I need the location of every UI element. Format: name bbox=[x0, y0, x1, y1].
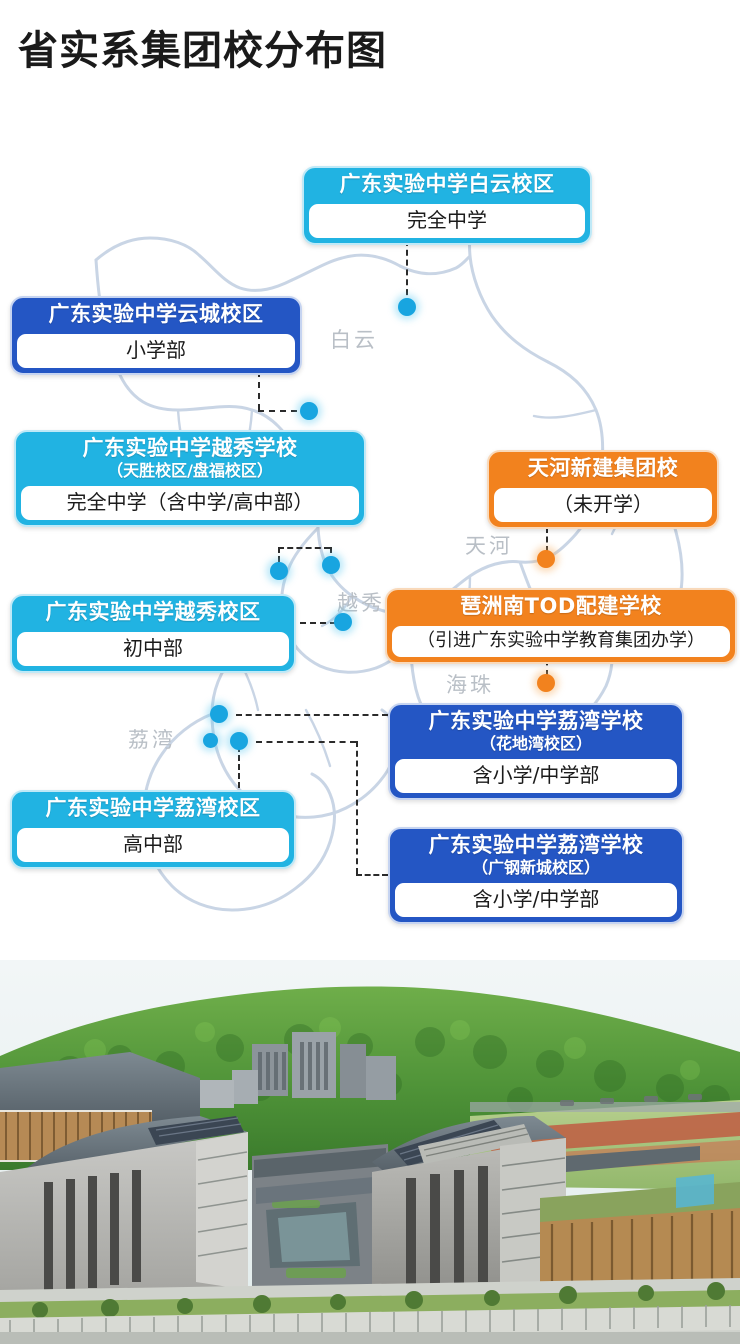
map-dot-liwan-huadiwan[interactable] bbox=[210, 705, 228, 723]
card-baiyun-campus[interactable]: 广东实验中学白云校区 完全中学 bbox=[302, 166, 592, 245]
card-pazhou-header: 琶洲南TOD配建学校 bbox=[387, 590, 735, 625]
card-tianhe-body: （未开学） bbox=[493, 487, 713, 523]
district-label-liwan: 荔湾 bbox=[128, 724, 176, 754]
card-yuexiu-campus-header: 广东实验中学越秀校区 bbox=[12, 596, 294, 631]
page-title: 省实系集团校分布图 bbox=[18, 18, 387, 76]
district-label-tianhe: 天河 bbox=[465, 530, 513, 560]
district-label-baiyun: 白云 bbox=[330, 324, 378, 354]
card-liwan-huadiwan-body: 含小学/中学部 bbox=[394, 758, 678, 794]
card-yuexiu-campus[interactable]: 广东实验中学越秀校区 初中部 bbox=[10, 594, 296, 673]
card-yuncheng-body: 小学部 bbox=[16, 333, 296, 369]
map-dot-liwan-campus[interactable] bbox=[203, 733, 218, 748]
card-liwan-guanggang-title: 广东实验中学荔湾学校 bbox=[400, 834, 672, 858]
map-dot-yuexiu-campus[interactable] bbox=[334, 613, 352, 631]
card-liwan-huadiwan-school[interactable]: 广东实验中学荔湾学校 （花地湾校区） 含小学/中学部 bbox=[388, 703, 684, 800]
card-tianhe-new-school[interactable]: 天河新建集团校 （未开学） bbox=[487, 450, 719, 529]
map-dot-yuexiu-panfu[interactable] bbox=[322, 556, 340, 574]
card-liwan-guanggang-school[interactable]: 广东实验中学荔湾学校 （广钢新城校区） 含小学/中学部 bbox=[388, 827, 684, 924]
map-dot-yuexiu-tiansheng[interactable] bbox=[270, 562, 288, 580]
card-tianhe-title: 天河新建集团校 bbox=[499, 457, 707, 481]
card-yuexiu-school-title: 广东实验中学越秀学校 bbox=[26, 437, 354, 461]
connector-liwan-guanggang-h1 bbox=[256, 741, 356, 743]
map-dot-tianhe-new[interactable] bbox=[537, 550, 555, 568]
card-pazhou-body: （引进广东实验中学教育集团办学） bbox=[391, 625, 731, 659]
campus-photo bbox=[0, 960, 740, 1344]
district-label-haizhu: 海珠 bbox=[446, 669, 494, 699]
card-yuexiu-school-subtitle: （天胜校区/盘福校区） bbox=[26, 462, 354, 480]
card-yuncheng-campus[interactable]: 广东实验中学云城校区 小学部 bbox=[10, 296, 302, 375]
card-liwan-guanggang-body: 含小学/中学部 bbox=[394, 882, 678, 918]
campus-photo-svg bbox=[0, 960, 740, 1344]
card-pazhou-tod-school[interactable]: 琶洲南TOD配建学校 （引进广东实验中学教育集团办学） bbox=[385, 588, 737, 664]
card-yuexiu-campus-title: 广东实验中学越秀校区 bbox=[22, 601, 284, 625]
card-liwan-campus-header: 广东实验中学荔湾校区 bbox=[12, 792, 294, 827]
card-yuncheng-title: 广东实验中学云城校区 bbox=[22, 303, 290, 327]
card-liwan-guanggang-header: 广东实验中学荔湾学校 （广钢新城校区） bbox=[390, 829, 682, 882]
map-dot-pazhou-tod[interactable] bbox=[537, 674, 555, 692]
infographic-root: 省实系集团校分布图 bbox=[0, 0, 740, 1344]
card-tianhe-header: 天河新建集团校 bbox=[489, 452, 717, 487]
connector-liwan-campus bbox=[238, 746, 240, 788]
card-baiyun-title: 广东实验中学白云校区 bbox=[314, 173, 580, 197]
card-yuncheng-header: 广东实验中学云城校区 bbox=[12, 298, 300, 333]
card-liwan-guanggang-subtitle: （广钢新城校区） bbox=[400, 859, 672, 877]
card-liwan-huadiwan-subtitle: （花地湾校区） bbox=[400, 735, 672, 753]
connector-liwan-guanggang-v bbox=[356, 741, 358, 874]
card-liwan-campus-body: 高中部 bbox=[16, 827, 290, 863]
map-dot-baiyun[interactable] bbox=[398, 298, 416, 316]
card-baiyun-body: 完全中学 bbox=[308, 203, 586, 239]
connector-liwan-huadiwan bbox=[236, 714, 388, 716]
map-dot-liwan-guanggang[interactable] bbox=[230, 732, 248, 750]
card-liwan-campus[interactable]: 广东实验中学荔湾校区 高中部 bbox=[10, 790, 296, 869]
card-yuexiu-school[interactable]: 广东实验中学越秀学校 （天胜校区/盘福校区） 完全中学（含中学/高中部） bbox=[14, 430, 366, 527]
connector-liwan-guanggang-h2 bbox=[356, 874, 388, 876]
card-pazhou-title: 琶洲南TOD配建学校 bbox=[397, 595, 725, 619]
connector-yuexiu-campus bbox=[300, 622, 336, 624]
connector-yuexiu-school-h bbox=[278, 547, 330, 549]
card-yuexiu-school-body: 完全中学（含中学/高中部） bbox=[20, 485, 360, 521]
card-liwan-huadiwan-title: 广东实验中学荔湾学校 bbox=[400, 710, 672, 734]
map-dot-yuncheng[interactable] bbox=[300, 402, 318, 420]
card-baiyun-header: 广东实验中学白云校区 bbox=[304, 168, 590, 203]
card-liwan-huadiwan-header: 广东实验中学荔湾学校 （花地湾校区） bbox=[390, 705, 682, 758]
card-yuexiu-school-header: 广东实验中学越秀学校 （天胜校区/盘福校区） bbox=[16, 432, 364, 485]
card-yuexiu-campus-body: 初中部 bbox=[16, 631, 290, 667]
card-liwan-campus-title: 广东实验中学荔湾校区 bbox=[22, 797, 284, 821]
